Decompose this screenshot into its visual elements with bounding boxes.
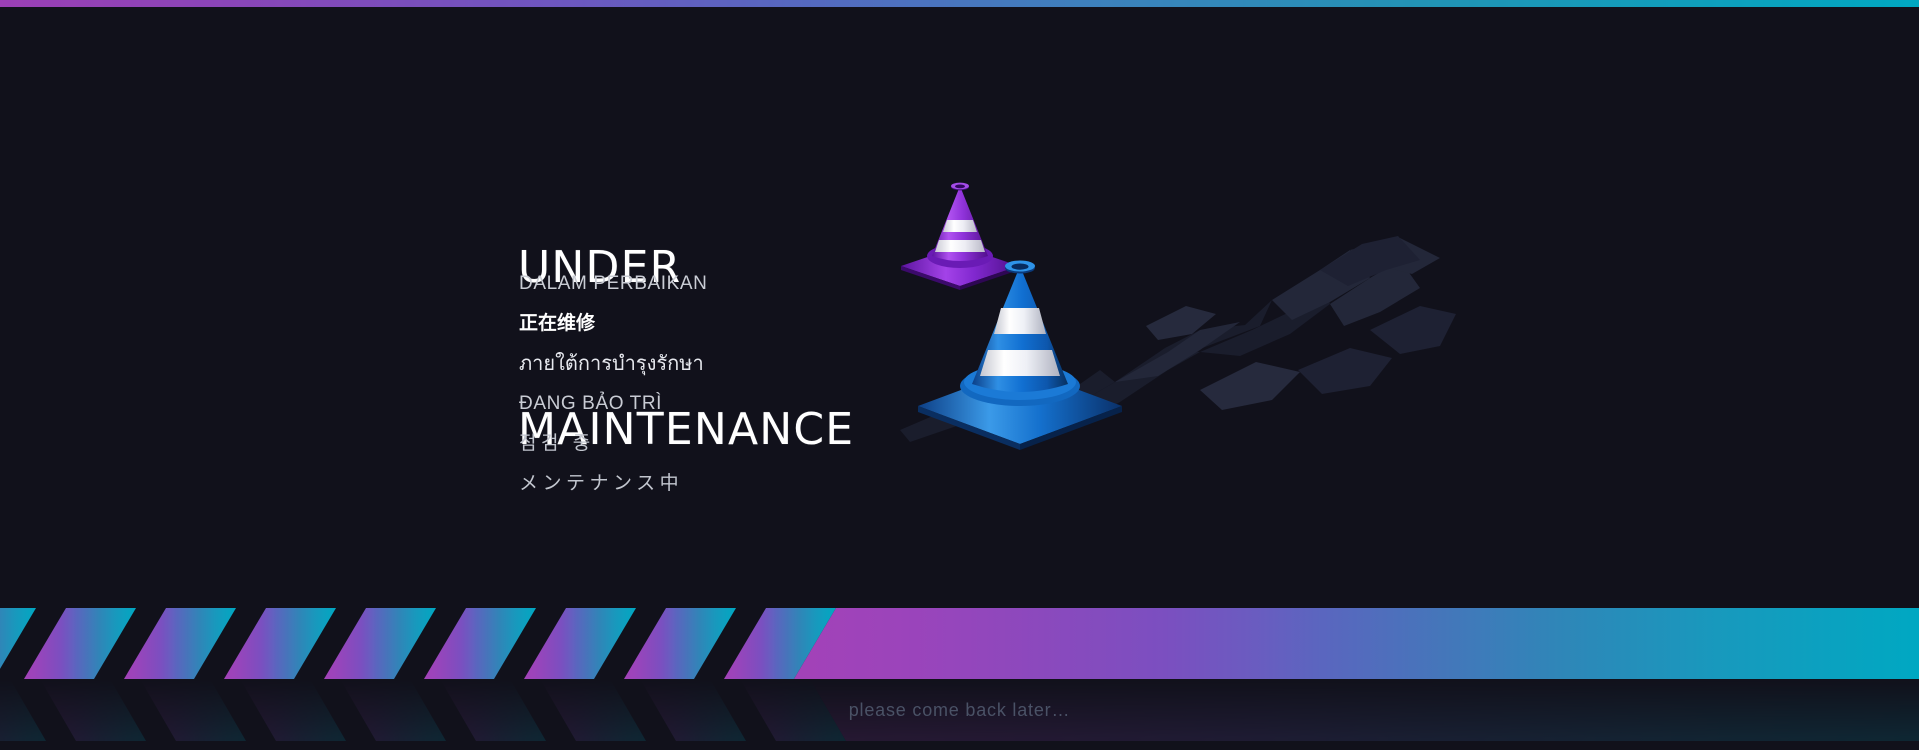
footer-note-text: please come back later… (849, 700, 1071, 721)
maintenance-page: UNDER MAINTENANCE DALAM PERBAIKAN 正在维修 ภ… (0, 0, 1919, 750)
maintenance-illustration (900, 180, 1460, 510)
footer-note: please come back later… (0, 700, 1919, 721)
hazard-stripes-icon (0, 608, 1919, 679)
traffic-cone-blue-icon (900, 250, 1140, 450)
hazard-stripe-band (0, 608, 1919, 679)
top-gradient-bar (0, 0, 1919, 7)
